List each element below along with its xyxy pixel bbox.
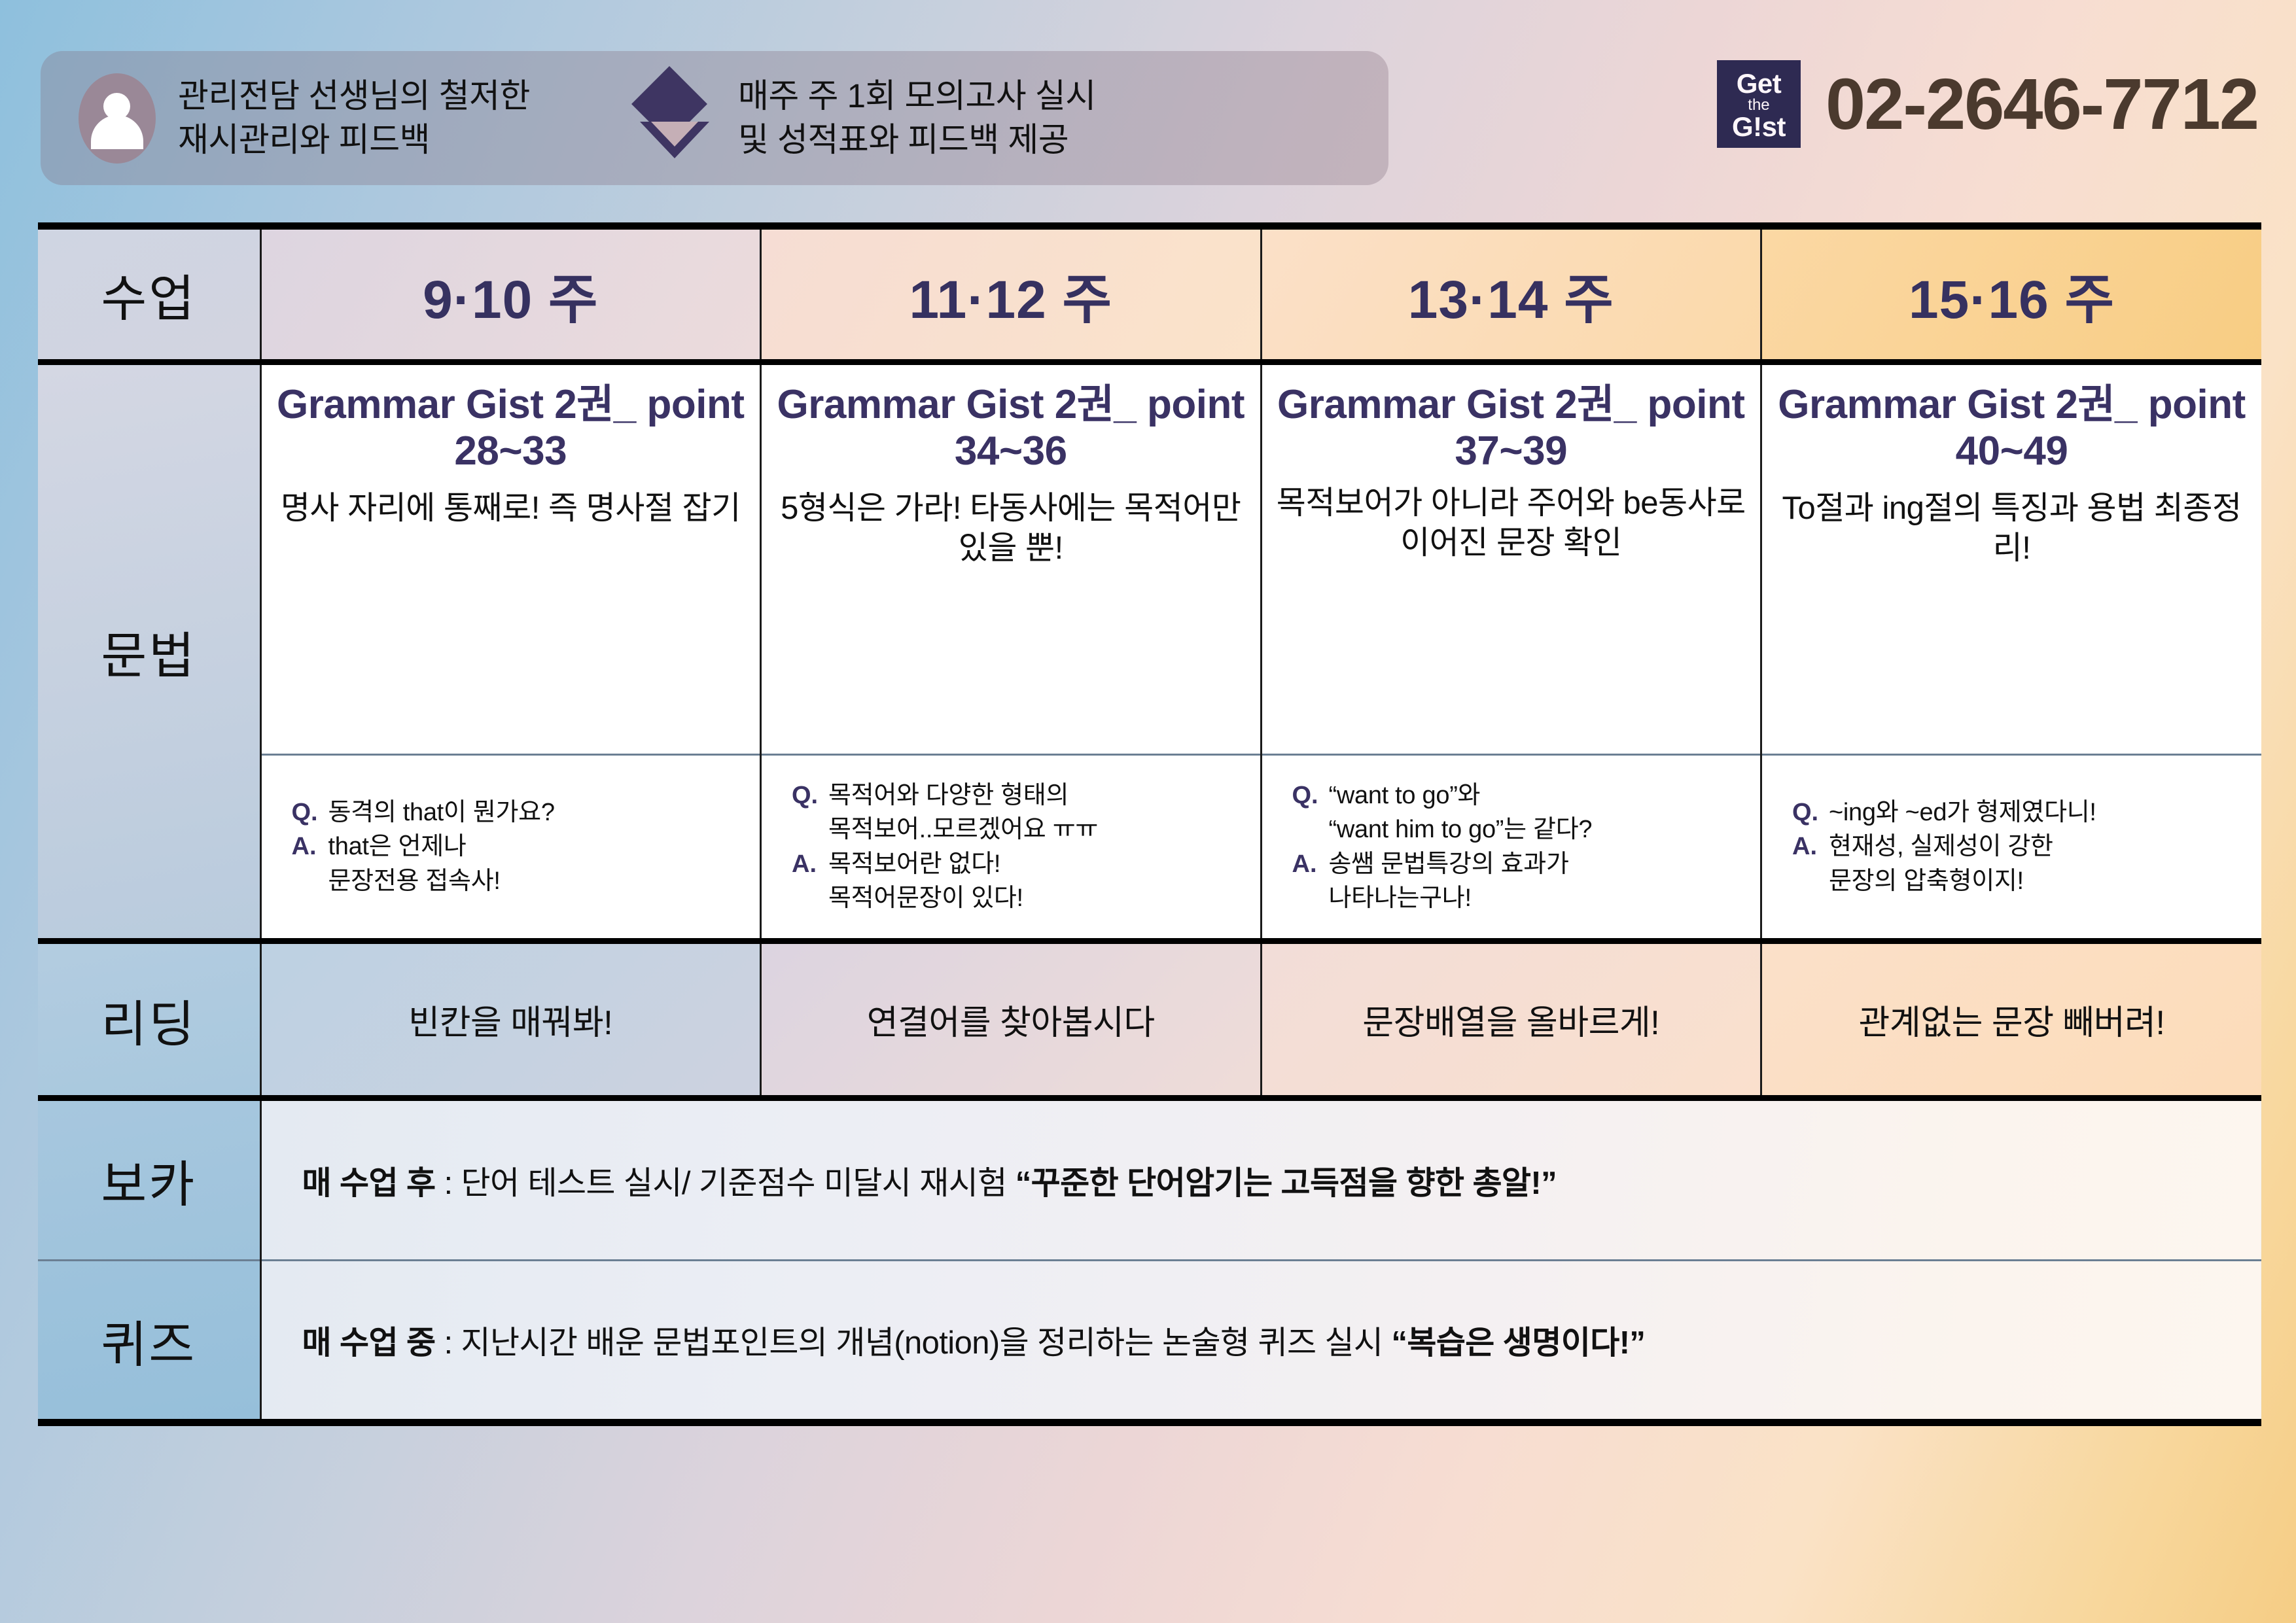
brand-logo: Get the G!st [1717, 60, 1801, 148]
qa-question-key-2: Q. [792, 778, 828, 812]
qa-question-text-3: “want to go”와 “want him to go”는 같다? [1329, 778, 1593, 847]
quiz-row: 퀴즈 매 수업 중 : 지난시간 배운 문법포인트의 개념(notion)을 정… [38, 1261, 2261, 1423]
qa-answer-3: A. 송쌤 문법특강의 효과가 나타나는구나! [1292, 847, 1754, 916]
week-header-2: 11·12 주 [761, 226, 1262, 362]
qa-answer-key-3: A. [1292, 847, 1329, 881]
qa-cell-1: Q. 동격의 that이 뭔가요? A. that은 언제나 문장전용 접속사! [260, 755, 761, 941]
qa-question-key-3: Q. [1292, 778, 1329, 812]
qa-question-key-1: Q. [292, 795, 328, 829]
qa-question-text-4: ~ing와 ~ed가 형제였다니! [1829, 795, 2096, 829]
qa-answer-text-1: that은 언제나 문장전용 접속사! [328, 829, 501, 898]
vocabulary-row: 보카 매 수업 후 : 단어 테스트 실시/ 기준점수 미달시 재시험 “꾸준한… [38, 1098, 2261, 1261]
grammar-title-3: Grammar Gist 2권_ point 37~39 [1271, 382, 1752, 474]
qa-answer-key-4: A. [1792, 829, 1829, 864]
grammar-cell-4: Grammar Gist 2권_ point 40~49 To절과 ing절의 … [1761, 362, 2262, 755]
feature-badge-management: 관리전담 선생님의 철저한 재시관리와 피드백 [79, 73, 530, 164]
reading-row: 리딩 빈칸을 매꿔봐! 연결어를 찾아봅시다 문장배열을 올바르게! 관계없는 … [38, 941, 2261, 1098]
phone-number[interactable]: 02-2646-7712 [1826, 63, 2258, 146]
qa-question-text-1: 동격의 that이 뭔가요? [328, 795, 555, 829]
row-label-grammar: 문법 [38, 362, 260, 941]
page-header: 관리전담 선생님의 철저한 재시관리와 피드백 매주 주 1회 모의고사 실시 … [0, 0, 2296, 222]
vocabulary-lead: 매 수업 후 [302, 1166, 436, 1201]
grammar-row: 문법 Grammar Gist 2권_ point 28~33 명사 자리에 통… [38, 362, 2261, 755]
qa-answer-text-3: 송쌤 문법특강의 효과가 나타나는구나! [1329, 847, 1569, 916]
qa-question-3: Q. “want to go”와 “want him to go”는 같다? [1292, 778, 1754, 847]
qa-answer-text-2: 목적보어란 없다! 목적어문장이 있다! [828, 847, 1023, 916]
person-icon [79, 73, 156, 164]
feature-badge-mocktest-text: 매주 주 1회 모의고사 실시 및 성적표와 피드백 제공 [738, 75, 1096, 162]
table-header-row: 수업 9·10 주 11·12 주 13·14 주 15·16 주 [38, 226, 2261, 362]
row-label-quiz: 퀴즈 [38, 1261, 260, 1423]
brand-logo-line1: Get [1737, 71, 1782, 97]
quiz-body: : 지난시간 배운 문법포인트의 개념(notion)을 정리하는 논술형 퀴즈… [435, 1325, 1391, 1361]
reading-cell-1: 빈칸을 매꿔봐! [260, 941, 761, 1098]
row-label-class: 수업 [38, 226, 260, 362]
qa-question-1: Q. 동격의 that이 뭔가요? [292, 795, 754, 829]
vocabulary-body: : 단어 테스트 실시/ 기준점수 미달시 재시험 [435, 1166, 1015, 1201]
qa-answer-4: A. 현재성, 실제성이 강한 문장의 압축형이지! [1792, 829, 2255, 898]
grammar-subtitle-2: 5형식은 가라! 타동사에는 목적어만 있을 뿐! [771, 489, 1251, 568]
curriculum-table: 수업 9·10 주 11·12 주 13·14 주 15·16 주 문법 Gra… [38, 222, 2261, 1426]
vocabulary-quote: “꾸준한 단어암기는 고득점을 향한 총알!” [1016, 1166, 1557, 1201]
qa-question-4: Q. ~ing와 ~ed가 형제였다니! [1792, 795, 2255, 829]
vocabulary-content: 매 수업 후 : 단어 테스트 실시/ 기준점수 미달시 재시험 “꾸준한 단어… [260, 1098, 2261, 1261]
qa-answer-1: A. that은 언제나 문장전용 접속사! [292, 829, 754, 898]
grammar-qa-row: Q. 동격의 that이 뭔가요? A. that은 언제나 문장전용 접속사!… [38, 755, 2261, 941]
row-label-reading: 리딩 [38, 941, 260, 1098]
grammar-title-2: Grammar Gist 2권_ point 34~36 [771, 382, 1251, 474]
qa-question-text-2: 목적어와 다양한 형태의 목적보어..모르겠어요 ㅠㅠ [828, 778, 1098, 847]
feature-badge-bar: 관리전담 선생님의 철저한 재시관리와 피드백 매주 주 1회 모의고사 실시 … [41, 51, 1388, 185]
qa-answer-text-4: 현재성, 실제성이 강한 문장의 압축형이지! [1829, 829, 2053, 898]
grammar-title-1: Grammar Gist 2권_ point 28~33 [271, 382, 751, 474]
row-label-vocabulary: 보카 [38, 1098, 260, 1261]
feature-badge-mocktest: 매주 주 1회 모의고사 실시 및 성적표와 피드백 제공 [635, 73, 1096, 164]
grammar-subtitle-4: To절과 ing절의 특징과 용법 최종정리! [1771, 489, 2252, 568]
brand-logo-line3: G!st [1732, 113, 1786, 140]
contact-block: Get the G!st 02-2646-7712 [1717, 60, 2258, 148]
qa-answer-key-2: A. [792, 847, 828, 881]
grammar-title-4: Grammar Gist 2권_ point 40~49 [1771, 382, 2252, 474]
grammar-subtitle-3: 목적보어가 아니라 주어와 be동사로 이어진 문장 확인 [1271, 483, 1752, 563]
layers-icon [635, 73, 716, 164]
qa-question-2: Q. 목적어와 다양한 형태의 목적보어..모르겠어요 ㅠㅠ [792, 778, 1254, 847]
feature-badge-management-text: 관리전담 선생님의 철저한 재시관리와 피드백 [178, 75, 530, 162]
qa-question-key-4: Q. [1792, 795, 1829, 829]
quiz-content: 매 수업 중 : 지난시간 배운 문법포인트의 개념(notion)을 정리하는… [260, 1261, 2261, 1423]
reading-cell-3: 문장배열을 올바르게! [1261, 941, 1761, 1098]
week-header-1: 9·10 주 [260, 226, 761, 362]
reading-cell-2: 연결어를 찾아봅시다 [761, 941, 1262, 1098]
grammar-cell-1: Grammar Gist 2권_ point 28~33 명사 자리에 통째로!… [260, 362, 761, 755]
grammar-cell-2: Grammar Gist 2권_ point 34~36 5형식은 가라! 타동… [761, 362, 1262, 755]
grammar-subtitle-1: 명사 자리에 통째로! 즉 명사절 잡기 [271, 489, 751, 529]
qa-cell-2: Q. 목적어와 다양한 형태의 목적보어..모르겠어요 ㅠㅠ A. 목적보어란 … [761, 755, 1262, 941]
week-header-3: 13·14 주 [1261, 226, 1761, 362]
week-header-4: 15·16 주 [1761, 226, 2262, 362]
qa-answer-2: A. 목적보어란 없다! 목적어문장이 있다! [792, 847, 1254, 916]
reading-cell-4: 관계없는 문장 빼버려! [1761, 941, 2262, 1098]
qa-answer-key-1: A. [292, 829, 328, 864]
qa-cell-3: Q. “want to go”와 “want him to go”는 같다? A… [1261, 755, 1761, 941]
quiz-lead: 매 수업 중 [302, 1325, 436, 1361]
quiz-quote: “복습은 생명이다!” [1391, 1325, 1645, 1361]
qa-cell-4: Q. ~ing와 ~ed가 형제였다니! A. 현재성, 실제성이 강한 문장의… [1761, 755, 2262, 941]
grammar-cell-3: Grammar Gist 2권_ point 37~39 목적보어가 아니라 주… [1261, 362, 1761, 755]
